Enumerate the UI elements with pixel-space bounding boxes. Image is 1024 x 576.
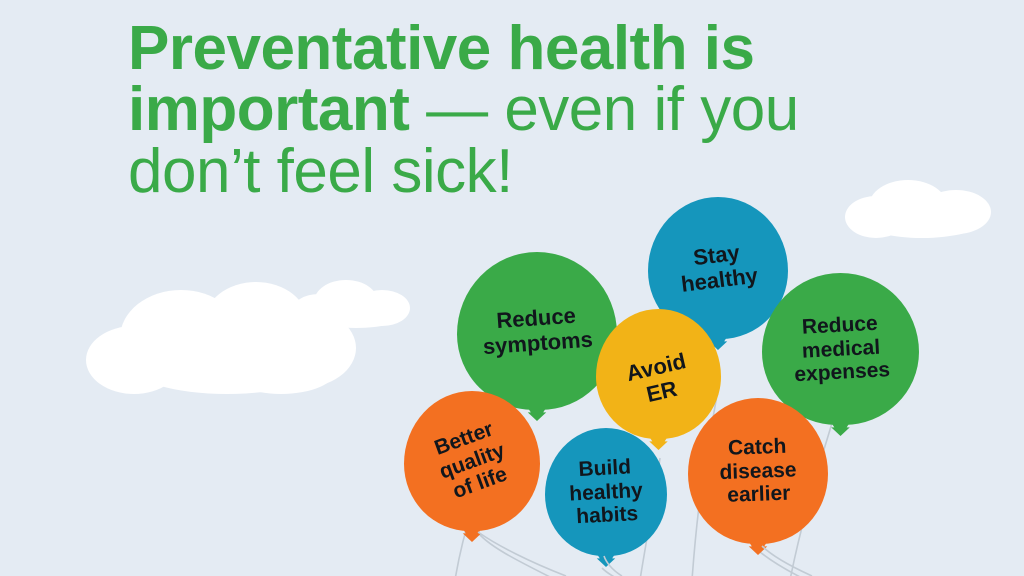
balloon-label: Catch disease earlier — [692, 434, 823, 509]
string-catch-disease-earlier — [760, 552, 806, 576]
balloon-reduce-symptoms[interactable]: Reduce symptoms — [457, 252, 617, 410]
string-build-healthy-habits — [602, 568, 620, 576]
balloon-label: Reduce medical expenses — [767, 310, 915, 388]
balloon-label: Reduce symptoms — [462, 301, 612, 360]
page-title: Preventative health is important — even … — [128, 18, 888, 202]
string-better-quality-of-life — [476, 530, 556, 576]
balloon-build-healthy-habits[interactable]: Build healthy habits — [545, 428, 667, 556]
balloon-catch-disease-earlier[interactable]: Catch disease earlier — [688, 398, 828, 544]
balloon-better-quality-of-life[interactable]: Better quality of life — [404, 391, 540, 531]
infographic-poster: Preventative health is important — even … — [0, 0, 1024, 576]
cloud-left-large — [86, 282, 356, 394]
cloud-left-small — [292, 280, 410, 328]
string-front-catch-disease-earlier — [762, 546, 812, 576]
balloon-label: Build healthy habits — [548, 454, 664, 530]
